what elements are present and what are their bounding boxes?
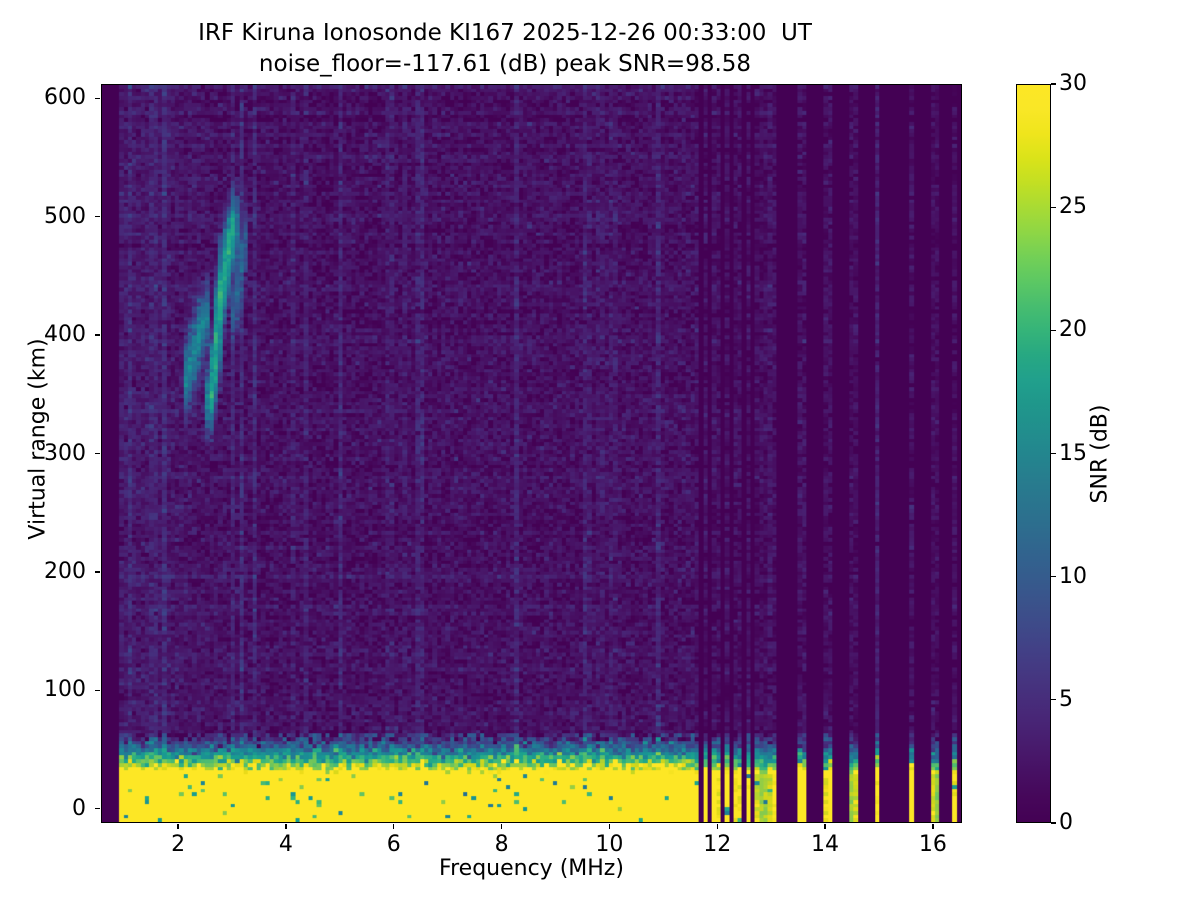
y-tick-label: 400	[0, 322, 86, 348]
colorbar-tick-mark	[1051, 330, 1056, 331]
y-tick-mark	[95, 216, 100, 217]
y-tick-label: 0	[0, 796, 86, 822]
colorbar-tick-mark	[1051, 822, 1056, 823]
ionogram-heatmap	[102, 85, 961, 822]
colorbar-tick-mark	[1051, 207, 1056, 208]
x-tick-mark	[824, 824, 825, 829]
plot-title: IRF Kiruna Ionosonde KI167 2025-12-26 00…	[0, 18, 1010, 80]
y-tick-label: 100	[0, 677, 86, 703]
x-tick-label: 4	[256, 832, 316, 858]
x-tick-label: 8	[472, 832, 532, 858]
x-tick-label: 10	[579, 832, 639, 858]
colorbar-tick-mark	[1051, 699, 1056, 700]
y-tick-mark	[95, 571, 100, 572]
y-tick-mark	[95, 453, 100, 454]
ionogram-axes[interactable]	[101, 84, 962, 823]
colorbar-tick-mark	[1051, 453, 1056, 454]
colorbar-tick-label: 10	[1059, 564, 1087, 590]
y-tick-label: 300	[0, 441, 86, 467]
colorbar-tick-label: 20	[1059, 317, 1087, 343]
x-tick-mark	[609, 824, 610, 829]
x-tick-mark	[393, 824, 394, 829]
y-tick-label: 200	[0, 559, 86, 585]
colorbar-tick-mark	[1051, 576, 1056, 577]
y-tick-label: 500	[0, 204, 86, 230]
x-tick-mark	[285, 824, 286, 829]
x-tick-label: 12	[687, 832, 747, 858]
x-tick-mark	[177, 824, 178, 829]
x-tick-label: 6	[364, 832, 424, 858]
y-tick-mark	[95, 98, 100, 99]
x-tick-mark	[932, 824, 933, 829]
colorbar-tick-label: 0	[1059, 810, 1073, 836]
plot-title-line2: noise_floor=-117.61 (dB) peak SNR=98.58	[0, 49, 1010, 80]
colorbar-tick-label: 30	[1059, 71, 1087, 97]
x-tick-label: 2	[148, 832, 208, 858]
colorbar-tick-mark	[1051, 83, 1056, 84]
x-tick-label: 16	[903, 832, 963, 858]
plot-title-line1: IRF Kiruna Ionosonde KI167 2025-12-26 00…	[0, 18, 1010, 49]
colorbar	[1016, 84, 1051, 823]
x-axis-label: Frequency (MHz)	[101, 856, 962, 881]
y-tick-mark	[95, 808, 100, 809]
colorbar-tick-label: 5	[1059, 687, 1073, 713]
x-tick-mark	[501, 824, 502, 829]
colorbar-label: SNR (dB)	[1088, 85, 1118, 824]
colorbar-tick-label: 15	[1059, 441, 1087, 467]
x-tick-mark	[717, 824, 718, 829]
y-tick-mark	[95, 334, 100, 335]
y-tick-label: 600	[0, 85, 86, 111]
colorbar-tick-label: 25	[1059, 194, 1087, 220]
ionogram-figure: IRF Kiruna Ionosonde KI167 2025-12-26 00…	[0, 0, 1200, 900]
x-tick-label: 14	[795, 832, 855, 858]
y-tick-mark	[95, 690, 100, 691]
